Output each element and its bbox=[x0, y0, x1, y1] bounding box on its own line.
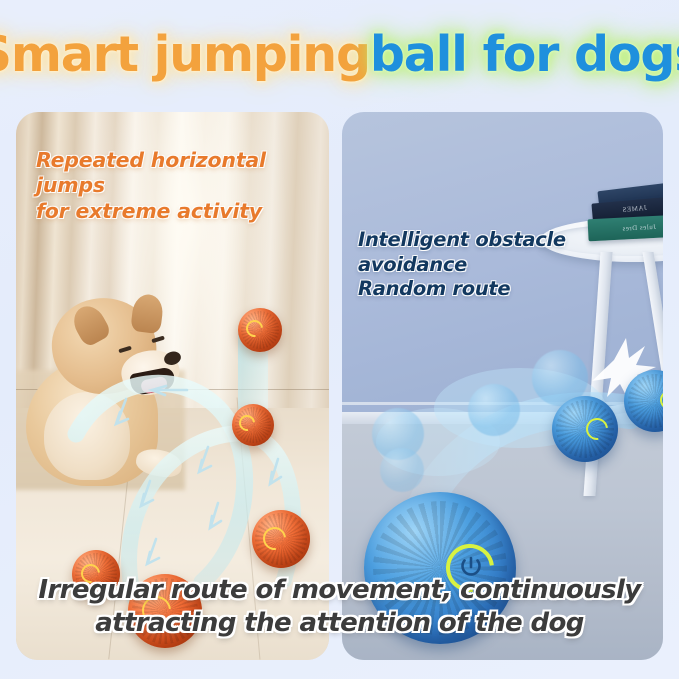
caption-right: Intelligent obstacle avoidance Random ro… bbox=[358, 228, 679, 302]
ball-blue-1 bbox=[552, 396, 618, 462]
ghost-ball-4 bbox=[380, 448, 424, 492]
title-part-2: ball for dogs bbox=[370, 26, 679, 83]
title-part-1: Smart jumping bbox=[0, 26, 370, 83]
ghost-ball-1 bbox=[468, 384, 520, 436]
caption-bottom: Irregular route of movement, continuousl… bbox=[0, 574, 679, 641]
caption-bottom-line-2: attracting the attention of the dog bbox=[0, 607, 679, 640]
ball-orange-1 bbox=[238, 308, 282, 352]
ball-orange-4 bbox=[252, 510, 310, 568]
ball-orange-2 bbox=[232, 404, 274, 446]
page-title: Smart jumpingball for dogs bbox=[0, 0, 679, 108]
title-text: Smart jumpingball for dogs bbox=[0, 30, 679, 79]
ball-tread bbox=[628, 374, 663, 429]
caption-left: Repeated horizontal jumps for extreme ac… bbox=[36, 148, 336, 224]
caption-bottom-line-1: Irregular route of movement, continuousl… bbox=[0, 574, 679, 607]
